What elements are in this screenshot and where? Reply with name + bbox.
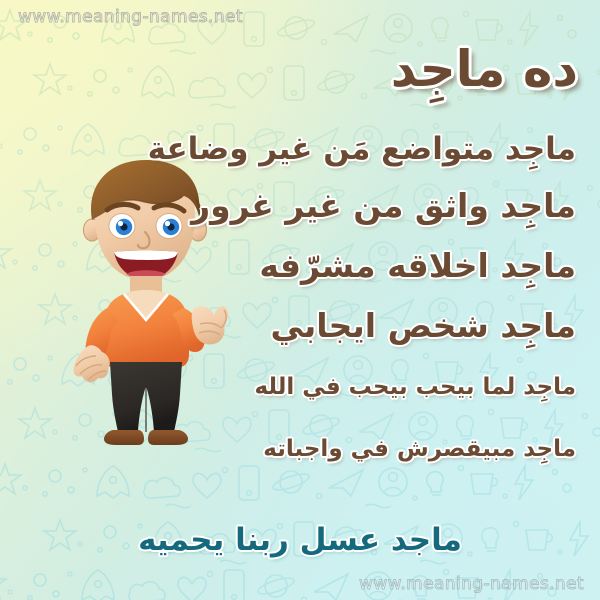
meaning-phrase-list: ماجِد متواضع مَن غير وضاعة ماجِد واثق من…: [24, 122, 576, 480]
phrase-line: ماجِد اخلاقه مشرّفه: [24, 236, 576, 296]
phrase-line: ماجِد واثق من غير غرور: [24, 176, 576, 236]
watermark-bottom: www.meaning-names.net: [359, 574, 584, 594]
watermark-top: www.meaning-names.net: [18, 7, 243, 27]
phrase-line: ماجِد لما بيحب بيحب في الله: [24, 356, 576, 418]
name-meaning-card: www.meaning-names.net: [0, 0, 600, 600]
phrase-line: ماجِد شخص ايجابي: [24, 296, 576, 356]
phrase-line: ماجِد مبيقصرش في واجباته: [24, 418, 576, 480]
phrase-line: ماجِد متواضع مَن غير وضاعة: [24, 122, 576, 176]
closing-phrase: ماجد عسل ربنا يحميه: [0, 522, 600, 558]
page-title: ده ماجِد: [391, 42, 578, 97]
